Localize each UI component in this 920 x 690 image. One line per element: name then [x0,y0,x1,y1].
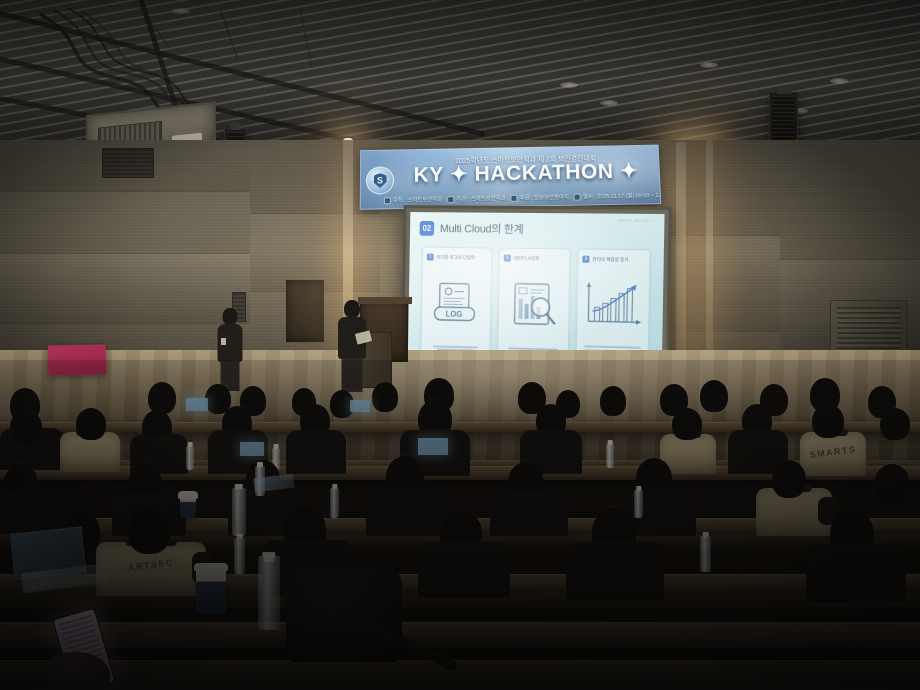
audience-head [874,464,910,504]
audience-shoulders [806,544,906,602]
card-label: 관리의 복잡성 증가 [592,256,628,263]
shield-icon: S [373,173,386,188]
banner-footer-item: 일시 : 2025.11.17 (월) 09:00 ~ 17:00 [574,191,661,201]
speaker-mount [776,86,790,94]
bottle-cap [608,440,613,445]
bottle-neck [264,556,274,562]
card-label: 이기종 로그의 다양화 [436,254,474,260]
audience-area: SMARTS [0,360,920,690]
hand [44,652,110,690]
bottle-cap [274,444,279,449]
audience-head [880,408,910,440]
laptop-screen [350,400,370,412]
varsity-jacket: SMARTS [800,432,866,476]
bottle-cap [235,484,243,489]
printed-script [355,330,372,344]
laptop-screen [418,438,448,455]
jacket-text: ARTSEC [128,558,175,574]
bottle-cap [332,484,337,489]
bottle-cap [702,532,709,537]
bottle-cap [257,462,263,467]
bottle-cap [636,486,641,491]
water-bottle [700,536,711,572]
audience-head [148,382,176,414]
card-badge: 3 [582,256,589,263]
audience-head [812,404,844,438]
bullet-icon [511,194,518,201]
slide-number: 02 [420,220,435,235]
audience-head [128,508,170,554]
desk-row [0,660,920,690]
audience-head [76,408,106,440]
water-bottle [186,446,194,470]
banner-title: KY ✦ HACKATHON ✦ [395,160,657,186]
projection-screen-frame: SMART SECURITY 02 Multi Cloud의 한계 1 이기종 … [401,205,672,368]
water-bottle [634,490,643,518]
log-document-icon: LOG [425,263,487,343]
card-header: 3 관리의 복잡성 증가 [582,256,628,264]
audience-shoulders [286,430,346,474]
banner-footer-item: 주최 : 스마트보안학과 [384,195,442,204]
audience-head [372,382,398,412]
water-bottle [234,538,245,574]
presentation-slide: SMART SECURITY 02 Multi Cloud의 한계 1 이기종 … [408,212,665,360]
coffee-cup [180,494,196,518]
audience-shoulders [566,542,664,600]
card-header: 2 데이터 사일로 [504,255,540,262]
card-header: 1 이기종 로그의 다양화 [427,254,475,262]
speaker-mount [230,122,241,130]
card-badge: 2 [504,255,511,262]
auditorium-photo: S 2025학년도 스마트보안학과 제 2회 보안경진대회 KY ✦ HACKA… [0,0,920,690]
card-badge: 1 [427,254,434,261]
data-search-icon [502,265,565,346]
water-bottle [232,488,246,536]
bottle-cap [188,442,193,447]
name-badge [221,338,226,345]
card-label: 데이터 사일로 [514,255,540,261]
slide-watermark: SMART SECURITY [619,219,656,223]
banner-footer-item: 후원 : 정보보안동아리 [511,193,570,202]
audience-shoulders [0,490,68,534]
slide-card: 3 관리의 복잡성 증가 [576,249,651,361]
water-bottle [258,556,280,630]
banner-footer-item: 주관 : 스마트보안학과 [447,194,505,203]
water-bottle [330,488,339,518]
audience-head [672,408,702,440]
slide-card: 2 데이터 사일로 [497,248,570,361]
jacket-text: SMARTS [809,444,857,460]
bullet-icon [447,195,454,202]
desk-row [0,622,920,648]
audience-shoulders [490,490,568,536]
growth-chart-icon [581,266,645,344]
slide-cards: 1 이기종 로그의 다양화 [417,247,653,361]
audience-shoulders [366,488,448,536]
bullet-icon [574,193,581,200]
audience-head [772,460,806,498]
slide-card: 1 이기종 로그의 다양화 [420,247,492,359]
cup-lid [194,563,228,571]
bullet-icon [384,197,391,204]
audience-head [700,380,728,412]
presenter-head [223,308,238,325]
event-banner: S 2025학년도 스마트보안학과 제 2회 보안경진대회 KY ✦ HACKA… [360,145,662,210]
audience-head [600,386,626,416]
audience-shoulders [418,542,510,598]
backpack [286,568,402,662]
slide-title: Multi Cloud의 한계 [440,220,524,237]
coffee-cup [196,566,226,614]
presenter-head [344,300,360,318]
audience-head [10,410,42,444]
laptop-screen [240,442,264,456]
svg-text:LOG: LOG [446,309,463,318]
water-bottle [606,444,614,468]
projection-screen: SMART SECURITY 02 Multi Cloud의 한계 1 이기종 … [408,212,665,360]
cup-lid [178,491,198,499]
laptop-screen [186,398,208,411]
